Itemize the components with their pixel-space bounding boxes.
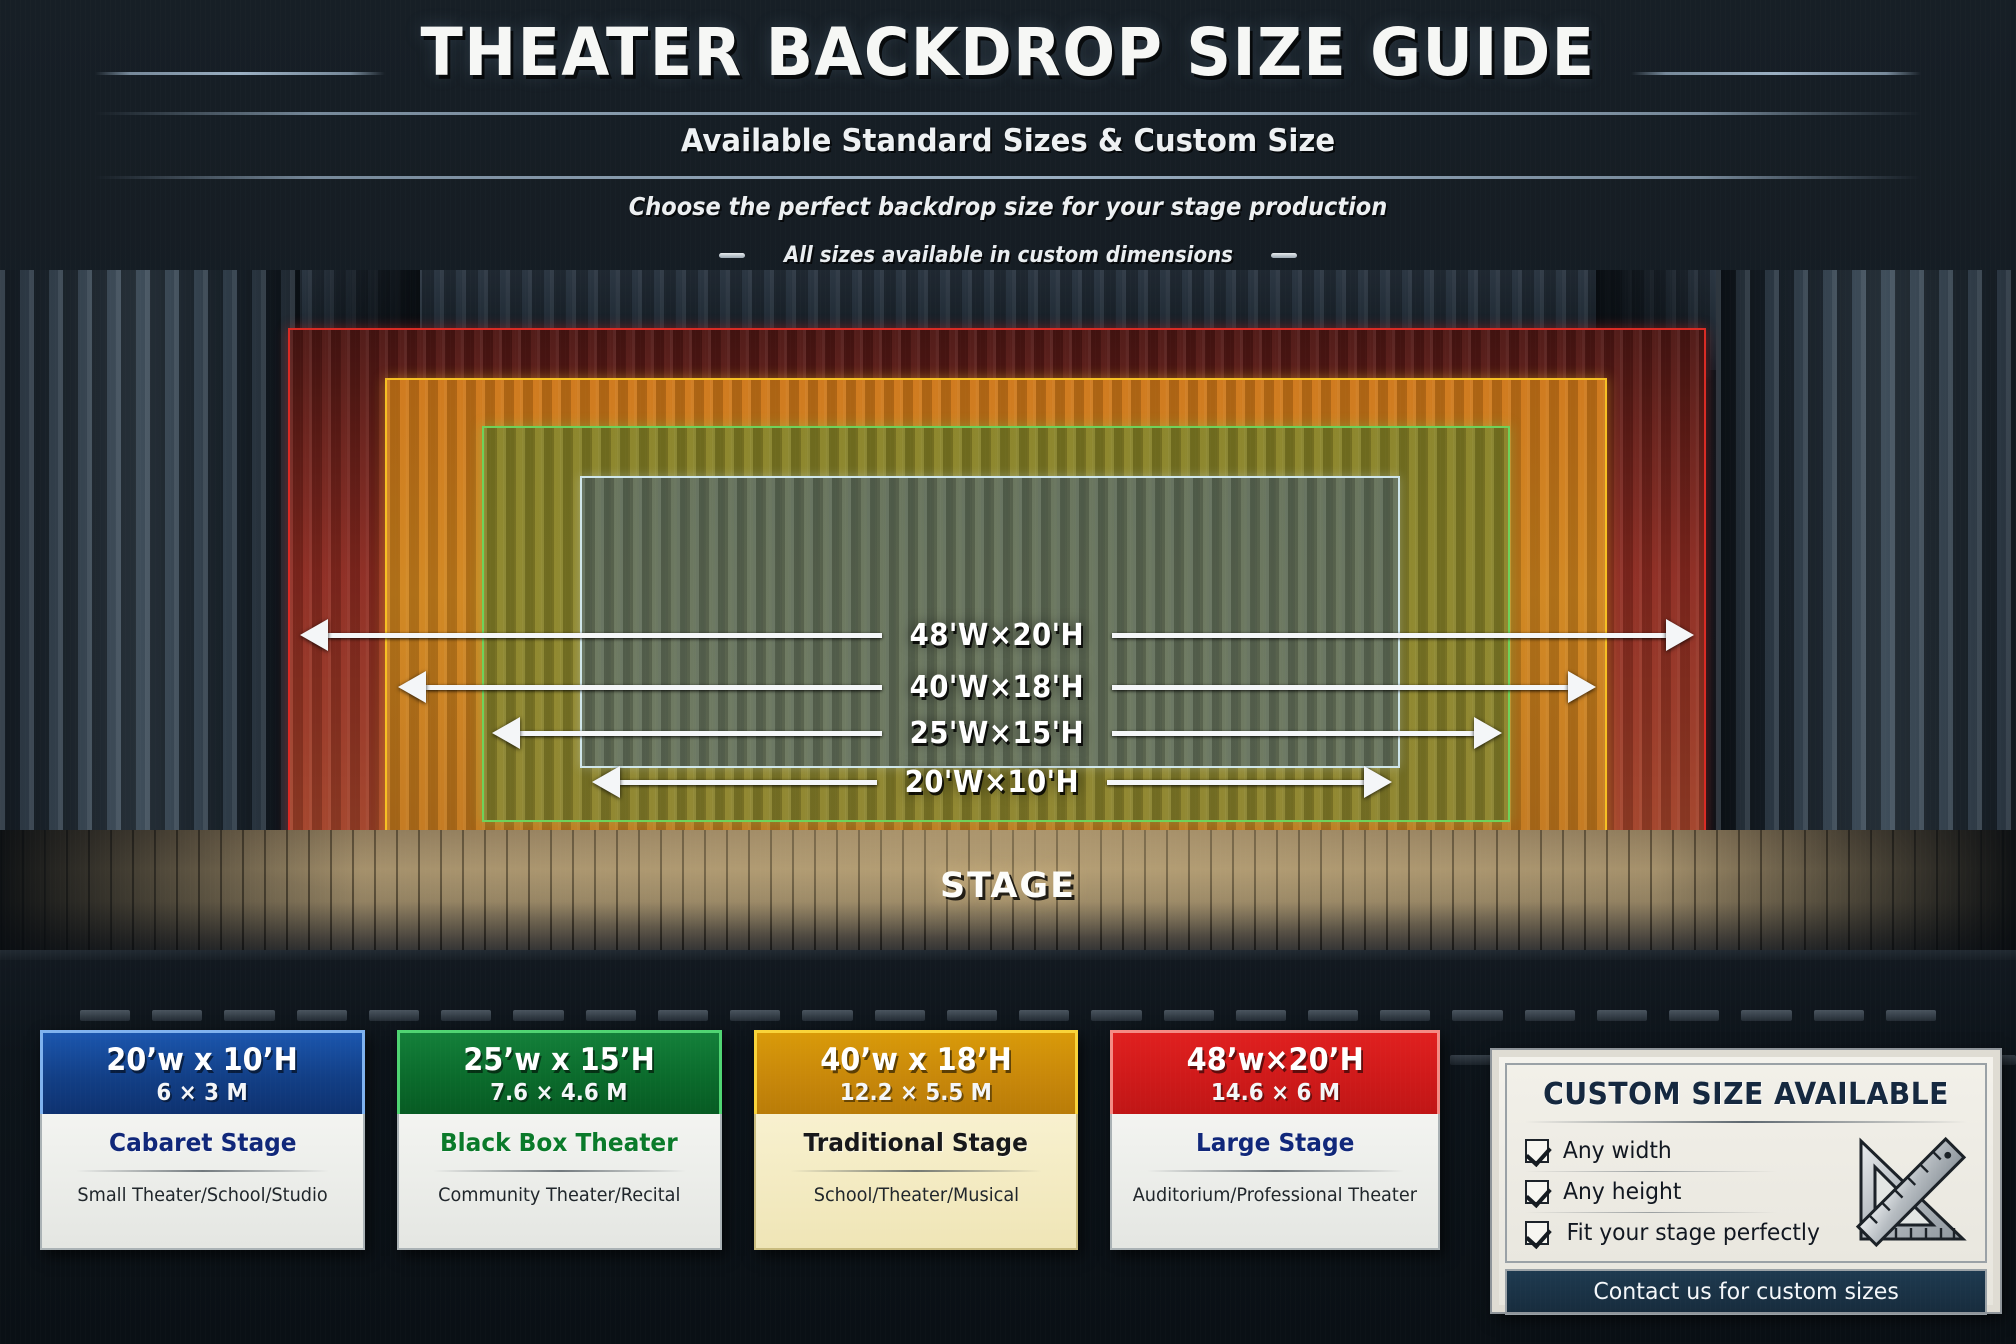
dimension-bar-right — [1112, 633, 1666, 638]
custom-size-divider — [1525, 1121, 1967, 1123]
light-cell — [947, 1010, 997, 1021]
card-title: Traditional Stage — [804, 1128, 1028, 1157]
dimension-bar-right — [1107, 780, 1364, 785]
card-header: 20’w x 10’H 6 × 3 M — [40, 1030, 365, 1114]
size-card-large-stage[interactable]: 48’w×20’H 14.6 × 6 M Large Stage Auditor… — [1110, 1030, 1440, 1250]
card-usage: Small Theater/School/Studio — [77, 1184, 327, 1206]
custom-size-panel[interactable]: CUSTOM SIZE AVAILABLE Any width Any heig… — [1492, 1050, 2000, 1312]
light-cell — [1091, 1010, 1141, 1021]
light-cell — [1308, 1010, 1358, 1021]
dash-left-icon — [719, 253, 745, 258]
card-body: Cabaret Stage Small Theater/School/Studi… — [40, 1114, 365, 1250]
size-card-list: 20’w x 10’H 6 × 3 M Cabaret Stage Small … — [40, 1030, 1440, 1250]
light-cell — [441, 1010, 491, 1021]
arrow-left-icon — [398, 671, 426, 703]
card-header: 25’w x 15’H 7.6 × 4.6 M — [397, 1030, 722, 1114]
arrow-left-icon — [592, 766, 620, 798]
arrow-right-icon — [1568, 671, 1596, 703]
light-cell — [152, 1010, 202, 1021]
size-card-black-box-theater[interactable]: 25’w x 15’H 7.6 × 4.6 M Black Box Theate… — [397, 1030, 722, 1250]
light-cell — [658, 1010, 708, 1021]
card-title: Large Stage — [1196, 1128, 1354, 1157]
arrow-right-icon — [1666, 619, 1694, 651]
ruler-set-square-icon — [1851, 1133, 1971, 1251]
dimension-bar-right — [1112, 685, 1568, 690]
page-subtitle: Available Standard Sizes & Custom Size — [60, 123, 1955, 159]
card-size-metric: 6 × 3 M — [157, 1080, 248, 1106]
light-cell — [1380, 1010, 1430, 1021]
dimension-label: 20'W×10'H — [886, 765, 1097, 800]
light-cell — [1236, 1010, 1286, 1021]
dimension-label: 25'W×15'H — [891, 716, 1102, 751]
card-title: Black Box Theater — [440, 1128, 678, 1157]
card-usage: Auditorium/Professional Theater — [1133, 1184, 1417, 1206]
card-size-metric: 7.6 × 4.6 M — [490, 1080, 627, 1106]
size-card-traditional-stage[interactable]: 40’w x 18’H 12.2 × 5.5 M Traditional Sta… — [754, 1030, 1079, 1250]
header-rule-middle — [95, 112, 1921, 115]
light-cell — [1597, 1010, 1647, 1021]
dimension-row-20x10: 20'W×10'H — [592, 762, 1392, 802]
dimension-label: 40'W×18'H — [891, 670, 1102, 705]
note-text: All sizes available in custom dimensions — [783, 243, 1232, 268]
card-divider — [76, 1170, 329, 1172]
light-cell — [1669, 1010, 1719, 1021]
dimension-row-25x15: 25'W×15'H — [492, 713, 1502, 753]
dimension-bar-left — [520, 731, 882, 736]
checkbox-checked-icon[interactable] — [1525, 1221, 1549, 1245]
dimension-label: 48'W×20'H — [891, 618, 1102, 653]
arrow-left-icon — [492, 717, 520, 749]
custom-feature-label: Any height — [1563, 1179, 1681, 1205]
card-title: Cabaret Stage — [109, 1128, 296, 1157]
lighting-strip-upper — [0, 1010, 2016, 1024]
checkbox-checked-icon[interactable] — [1525, 1180, 1549, 1204]
dash-right-icon — [1271, 253, 1297, 258]
card-divider — [1147, 1170, 1404, 1172]
card-usage: Community Theater/Recital — [438, 1184, 680, 1206]
stage-apron — [0, 950, 2016, 960]
dimension-bar-right — [1112, 731, 1474, 736]
light-cell — [586, 1010, 636, 1021]
dimension-bar-left — [328, 633, 882, 638]
light-cell — [1452, 1010, 1502, 1021]
custom-feature-label: Any width — [1563, 1138, 1672, 1164]
page-tagline: Choose the perfect backdrop size for you… — [101, 192, 1915, 221]
custom-size-inner: CUSTOM SIZE AVAILABLE Any width Any heig… — [1505, 1063, 1987, 1263]
card-divider — [433, 1170, 686, 1172]
card-size-metric: 14.6 × 6 M — [1211, 1080, 1340, 1106]
card-body: Large Stage Auditorium/Professional Thea… — [1110, 1114, 1440, 1250]
card-divider — [790, 1170, 1043, 1172]
light-cell — [1019, 1010, 1069, 1021]
header: THEATER BACKDROP SIZE GUIDE Available St… — [0, 0, 2016, 270]
card-usage: School/Theater/Musical — [813, 1184, 1018, 1206]
light-cell — [513, 1010, 563, 1021]
light-cell — [1525, 1010, 1575, 1021]
card-header: 48’w×20’H 14.6 × 6 M — [1110, 1030, 1440, 1114]
dimension-bar-left — [426, 685, 882, 690]
card-body: Black Box Theater Community Theater/Reci… — [397, 1114, 722, 1250]
custom-size-title: CUSTOM SIZE AVAILABLE — [1538, 1077, 1953, 1112]
size-card-cabaret-stage[interactable]: 20’w x 10’H 6 × 3 M Cabaret Stage Small … — [40, 1030, 365, 1250]
card-size-imperial: 25’w x 15’H — [463, 1042, 655, 1078]
page-title: THEATER BACKDROP SIZE GUIDE — [60, 20, 1955, 86]
stage-curtain-left — [0, 270, 300, 830]
arrow-right-icon — [1474, 717, 1502, 749]
card-header: 40’w x 18’H 12.2 × 5.5 M — [754, 1030, 1079, 1114]
contact-label: Contact us for custom sizes — [1593, 1279, 1898, 1305]
light-cell — [1814, 1010, 1864, 1021]
arrow-left-icon — [300, 619, 328, 651]
dimension-bar-left — [620, 780, 877, 785]
stage-curtain-right — [1716, 270, 2016, 830]
light-cell — [1886, 1010, 1936, 1021]
custom-feature-label: Fit your stage perfectly — [1567, 1220, 1820, 1246]
dimension-row-48x20: 48'W×20'H — [300, 615, 1694, 655]
light-cell — [1164, 1010, 1214, 1021]
infographic-root: THEATER BACKDROP SIZE GUIDE Available St… — [0, 0, 2016, 1344]
card-size-imperial: 48’w×20’H — [1187, 1042, 1364, 1078]
light-cell — [297, 1010, 347, 1021]
arrow-right-icon — [1364, 766, 1392, 798]
light-cell — [1741, 1010, 1791, 1021]
stage-label: STAGE — [0, 866, 2016, 906]
header-rule-lower — [95, 176, 1921, 179]
dimension-row-40x18: 40'W×18'H — [398, 667, 1596, 707]
light-cell — [730, 1010, 780, 1021]
card-size-imperial: 20’w x 10’H — [107, 1042, 299, 1078]
light-cell — [802, 1010, 852, 1021]
card-body: Traditional Stage School/Theater/Musical — [754, 1114, 1079, 1250]
contact-banner[interactable]: Contact us for custom sizes — [1505, 1269, 1987, 1315]
card-size-metric: 12.2 × 5.5 M — [840, 1080, 992, 1106]
light-cell — [224, 1010, 274, 1021]
light-cell — [369, 1010, 419, 1021]
light-cell — [80, 1010, 130, 1021]
card-size-imperial: 40’w x 18’H — [820, 1042, 1012, 1078]
light-cell — [875, 1010, 925, 1021]
checkbox-checked-icon[interactable] — [1525, 1139, 1549, 1163]
stage-diagram: STAGE 48'W×20'H 40'W×18'H 25'W×15'H — [0, 270, 2016, 960]
custom-dimensions-note: All sizes available in custom dimensions — [0, 243, 2016, 268]
